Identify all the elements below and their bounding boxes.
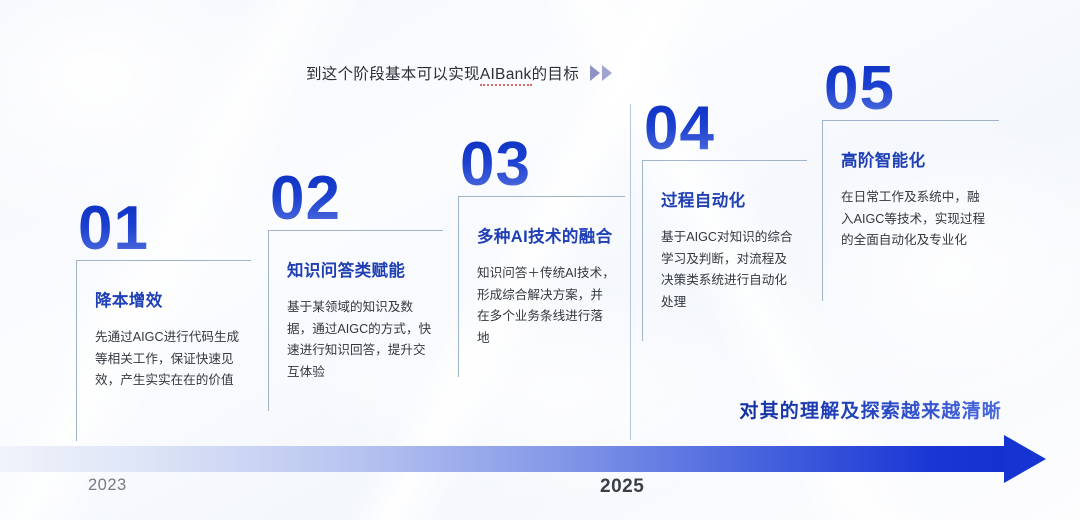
top-annotation-suffix: 的目标 [532, 66, 579, 83]
summary-headline: 对其的理解及探索越来越清晰 [739, 396, 1002, 423]
top-annotation-highlight: AIBank [480, 66, 532, 86]
step-description: 先通过AIGC进行代码生成等相关工作，保证快速见效，产生实实在在的价值 [95, 327, 241, 392]
step-description: 基于AIGC对知识的综合学习及判断，对流程及决策类系统进行自动化处理 [661, 227, 797, 314]
timeline-bar [0, 446, 1012, 472]
vertical-guide-line [630, 104, 631, 440]
step-card-05[interactable]: 05 高阶智能化 在日常工作及系统中，融入AIGC等技术，实现过程的全面自动化及… [822, 58, 999, 301]
step-title: 过程自动化 [661, 187, 797, 211]
step-description: 知识问答＋传统AI技术，形成综合解决方案，并在多个业务条线进行落地 [477, 263, 615, 350]
top-annotation: 到这个阶段基本可以实现AIBank的目标 [306, 60, 612, 86]
step-number: 05 [824, 58, 999, 120]
chevron-right-icon [602, 65, 612, 81]
step-title: 降本增效 [95, 287, 241, 311]
step-card-frame: 知识问答类赋能 基于某领域的知识及数据，通过AIGC的方式，快速进行知识回答，提… [268, 230, 443, 411]
step-title: 多种AI技术的融合 [477, 223, 615, 247]
step-number: 02 [270, 168, 443, 230]
step-card-01[interactable]: 01 降本增效 先通过AIGC进行代码生成等相关工作，保证快速见效，产生实实在在… [76, 198, 251, 441]
double-chevron-right-icon [590, 65, 612, 81]
step-number: 04 [644, 98, 807, 160]
timeline-year-end: 2025 [600, 476, 644, 498]
step-card-frame: 多种AI技术的融合 知识问答＋传统AI技术，形成综合解决方案，并在多个业务条线进… [458, 196, 625, 377]
step-number: 01 [78, 198, 251, 260]
step-title: 高阶智能化 [841, 147, 989, 171]
timeline-axis [0, 440, 1080, 486]
step-description: 基于某领域的知识及数据，通过AIGC的方式，快速进行知识回答，提升交互体验 [287, 297, 433, 384]
chevron-right-icon [590, 65, 600, 81]
step-card-frame: 过程自动化 基于AIGC对知识的综合学习及判断，对流程及决策类系统进行自动化处理 [642, 160, 807, 341]
step-description: 在日常工作及系统中，融入AIGC等技术，实现过程的全面自动化及专业化 [841, 187, 989, 252]
top-annotation-text: 到这个阶段基本可以实现AIBank的目标 [306, 62, 579, 84]
infographic-canvas: 到这个阶段基本可以实现AIBank的目标 01 降本增效 先通过AIGC进行代码… [0, 0, 1080, 520]
step-number: 03 [460, 134, 625, 196]
top-annotation-prefix: 到这个阶段基本可以实现 [306, 66, 480, 83]
timeline-year-start: 2023 [88, 476, 127, 495]
step-card-04[interactable]: 04 过程自动化 基于AIGC对知识的综合学习及判断，对流程及决策类系统进行自动… [642, 98, 807, 341]
step-card-frame: 高阶智能化 在日常工作及系统中，融入AIGC等技术，实现过程的全面自动化及专业化 [822, 120, 999, 301]
step-title: 知识问答类赋能 [287, 257, 433, 281]
step-card-02[interactable]: 02 知识问答类赋能 基于某领域的知识及数据，通过AIGC的方式，快速进行知识回… [268, 168, 443, 411]
step-card-frame: 降本增效 先通过AIGC进行代码生成等相关工作，保证快速见效，产生实实在在的价值 [76, 260, 251, 441]
step-card-03[interactable]: 03 多种AI技术的融合 知识问答＋传统AI技术，形成综合解决方案，并在多个业务… [458, 134, 625, 377]
arrow-right-icon [1004, 435, 1046, 483]
